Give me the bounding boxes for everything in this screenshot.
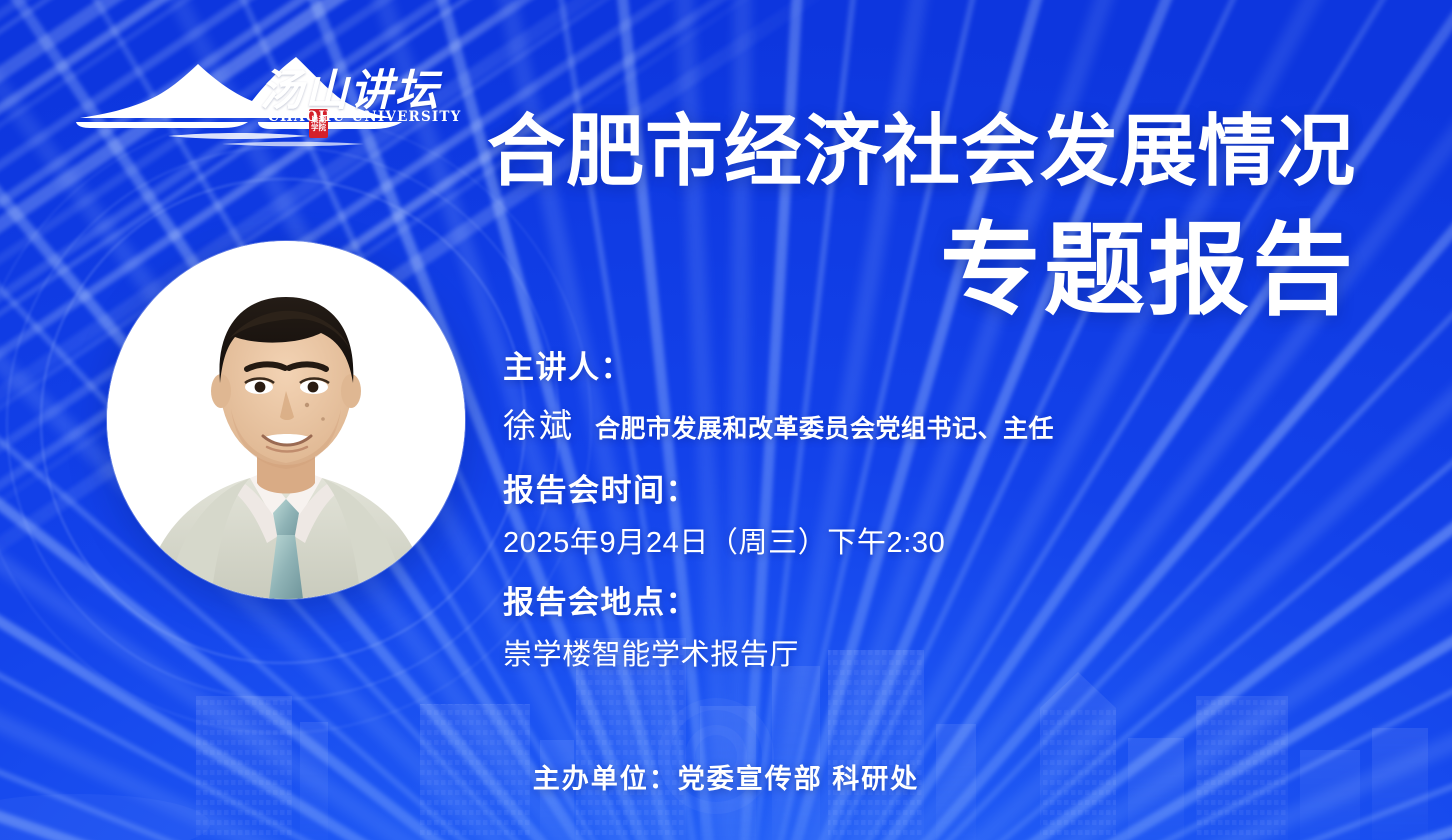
- speaker-portrait-avatar: [107, 241, 465, 599]
- title-line-2: 专题报告: [416, 220, 1356, 323]
- place-value: 崇学楼智能学术报告厅: [503, 631, 1403, 673]
- event-info-block: 主讲人： 徐斌 合肥市发展和改革委员会党组书记、主任 报告会时间： 2025年9…: [503, 348, 1403, 673]
- poster-canvas: 巢湖 学院 汤山讲坛 CHAOHU UNIVERSITY 合肥市经济社会发展情况…: [0, 0, 1452, 840]
- time-label: 报告会时间：: [503, 471, 1403, 512]
- portrait-photo: [107, 241, 465, 599]
- speaker-row: 徐斌 合肥市发展和改革委员会党组书记、主任: [503, 399, 1403, 447]
- title-line-1: 合肥市经济社会发展情况: [416, 112, 1356, 192]
- time-value: 2025年9月24日（周三）下午2:30: [503, 519, 1403, 561]
- speaker-name: 徐斌: [503, 399, 575, 447]
- speaker-label: 主讲人：: [503, 348, 1403, 389]
- speaker-affiliation: 合肥市发展和改革委员会党组书记、主任: [595, 409, 1054, 445]
- poster-title: 合肥市经济社会发展情况 专题报告: [416, 112, 1356, 323]
- brand-logo[interactable]: 巢湖 学院 汤山讲坛 CHAOHU UNIVERSITY: [72, 52, 424, 148]
- place-label: 报告会地点：: [503, 583, 1403, 624]
- organizer-footer: 主办单位：党委宣传部 科研处: [0, 757, 1452, 796]
